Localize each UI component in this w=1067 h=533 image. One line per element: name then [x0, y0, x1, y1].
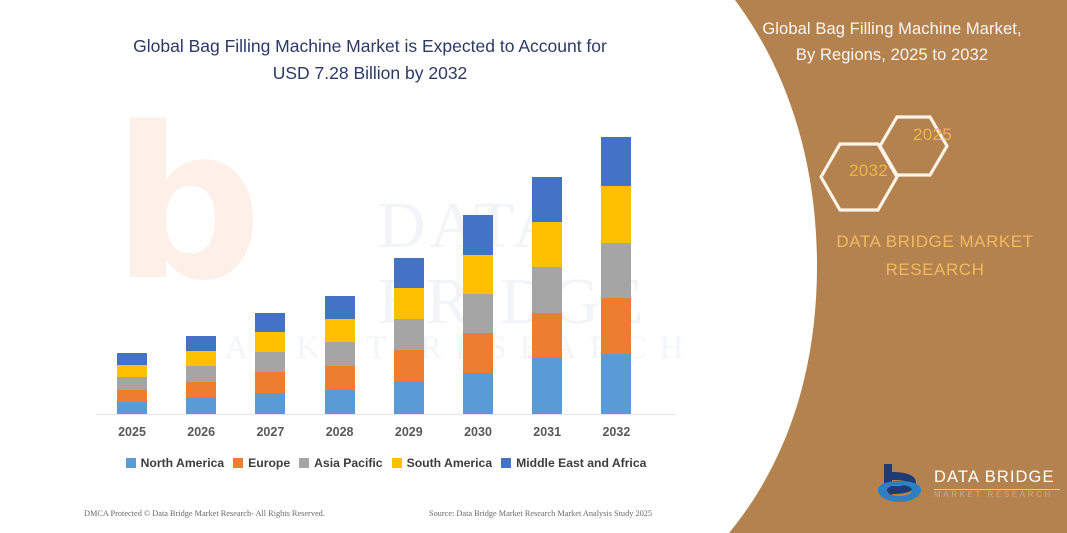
- bar-segment-asia-pacific: [325, 342, 355, 366]
- bar-segment-north-america: [117, 402, 147, 414]
- data-bridge-b-icon: [876, 462, 928, 508]
- brand-line-1: DATA BRIDGE MARKET: [790, 228, 1067, 256]
- bar-segment-north-america: [394, 382, 424, 414]
- infographic-root: b DATA BRIDGE MARKET RESEARCH Global Bag…: [0, 0, 1067, 533]
- bar-2027: [255, 313, 285, 414]
- legend-label: Europe: [248, 456, 290, 470]
- bar-segment-asia-pacific: [117, 377, 147, 389]
- bar-segment-north-america: [601, 354, 631, 414]
- x-axis-label-2032: 2032: [586, 425, 646, 439]
- data-bridge-logo: DATA BRIDGE MARKET RESEARCH: [876, 462, 1061, 510]
- bar-2028: [325, 296, 355, 414]
- bar-segment-north-america: [255, 393, 285, 414]
- bar-2025: [117, 353, 147, 414]
- hexagon-2025-label: 2025: [913, 125, 952, 145]
- bar-segment-europe: [532, 313, 562, 358]
- hexagon-group: 2032 2025: [800, 100, 1000, 215]
- hexagon-2032-label: 2032: [849, 161, 888, 181]
- bar-segment-europe: [325, 366, 355, 390]
- legend-label: Middle East and Africa: [516, 456, 646, 470]
- bar-segment-south-america: [601, 186, 631, 243]
- bar-segment-middle-east-and-africa: [463, 215, 493, 255]
- bar-segment-europe: [394, 350, 424, 382]
- legend-item-south-america[interactable]: South America: [392, 456, 493, 470]
- brand-panel-brandname: DATA BRIDGE MARKET RESEARCH: [790, 228, 1067, 284]
- footer: DMCA Protected © Data Bridge Market Rese…: [84, 509, 684, 518]
- legend-item-middle-east-and-africa[interactable]: Middle East and Africa: [501, 456, 646, 470]
- brand-panel-title: Global Bag Filling Machine Market, By Re…: [724, 16, 1060, 68]
- bar-segment-south-america: [186, 351, 216, 366]
- bar-2026: [186, 336, 216, 414]
- bar-segment-middle-east-and-africa: [117, 353, 147, 365]
- brand-line-2: RESEARCH: [790, 256, 1067, 284]
- bar-segment-europe: [255, 372, 285, 393]
- legend-swatch-icon: [126, 458, 136, 468]
- x-axis-label-2029: 2029: [379, 425, 439, 439]
- legend-swatch-icon: [233, 458, 243, 468]
- bar-segment-south-america: [255, 332, 285, 352]
- bar-segment-europe: [601, 298, 631, 354]
- bar-segment-asia-pacific: [601, 243, 631, 298]
- bar-segment-middle-east-and-africa: [394, 258, 424, 288]
- legend-swatch-icon: [299, 458, 309, 468]
- brand-panel-title-line1: Global Bag Filling Machine Market,: [724, 16, 1060, 42]
- x-axis-label-2028: 2028: [310, 425, 370, 439]
- bar-2032: [601, 137, 631, 414]
- x-axis-label-2026: 2026: [171, 425, 231, 439]
- x-axis-label-2025: 2025: [102, 425, 162, 439]
- x-axis-label-2027: 2027: [240, 425, 300, 439]
- bar-segment-south-america: [463, 255, 493, 294]
- bar-segment-asia-pacific: [394, 319, 424, 350]
- legend-swatch-icon: [501, 458, 511, 468]
- stacked-bar-chart: 20252026202720282029203020312032: [0, 0, 718, 533]
- logo-wordmark: DATA BRIDGE: [934, 468, 1060, 490]
- bar-segment-asia-pacific: [532, 267, 562, 313]
- footer-source: Source: Data Bridge Market Research Mark…: [429, 509, 684, 518]
- legend-item-asia-pacific[interactable]: Asia Pacific: [299, 456, 382, 470]
- legend-label: Asia Pacific: [314, 456, 382, 470]
- x-axis-label-2031: 2031: [517, 425, 577, 439]
- bar-segment-north-america: [186, 398, 216, 414]
- logo-wordmark-text: DATA BRIDGE: [934, 468, 1055, 486]
- bar-segment-europe: [186, 382, 216, 398]
- legend-swatch-icon: [392, 458, 402, 468]
- bar-segment-middle-east-and-africa: [325, 296, 355, 319]
- legend-item-north-america[interactable]: North America: [126, 456, 225, 470]
- footer-copyright: DMCA Protected © Data Bridge Market Rese…: [84, 509, 429, 518]
- legend-label: North America: [141, 456, 225, 470]
- bar-2031: [532, 177, 562, 414]
- legend-item-europe[interactable]: Europe: [233, 456, 290, 470]
- bar-segment-south-america: [394, 288, 424, 318]
- bar-segment-asia-pacific: [255, 352, 285, 372]
- bar-segment-south-america: [532, 222, 562, 267]
- brand-panel-title-line2: By Regions, 2025 to 2032: [724, 42, 1060, 68]
- bar-segment-middle-east-and-africa: [186, 336, 216, 351]
- bar-segment-north-america: [325, 390, 355, 414]
- bar-segment-asia-pacific: [463, 294, 493, 333]
- bar-segment-south-america: [325, 319, 355, 342]
- bar-2029: [394, 258, 424, 414]
- x-axis-line: [96, 414, 676, 415]
- bar-segment-asia-pacific: [186, 366, 216, 382]
- bar-segment-europe: [463, 333, 493, 373]
- hexagon-shapes: [800, 100, 1000, 215]
- bar-segment-north-america: [532, 358, 562, 414]
- bar-segment-middle-east-and-africa: [601, 137, 631, 186]
- bar-segment-middle-east-and-africa: [255, 313, 285, 332]
- x-axis-label-2030: 2030: [448, 425, 508, 439]
- bar-segment-north-america: [463, 373, 493, 414]
- bar-segment-south-america: [117, 365, 147, 377]
- chart-legend: North AmericaEuropeAsia PacificSouth Ame…: [96, 456, 676, 470]
- logo-subword: MARKET RESEARCH: [934, 490, 1053, 499]
- bar-segment-europe: [117, 390, 147, 402]
- legend-label: South America: [407, 456, 493, 470]
- bar-2030: [463, 215, 493, 414]
- bar-segment-middle-east-and-africa: [532, 177, 562, 222]
